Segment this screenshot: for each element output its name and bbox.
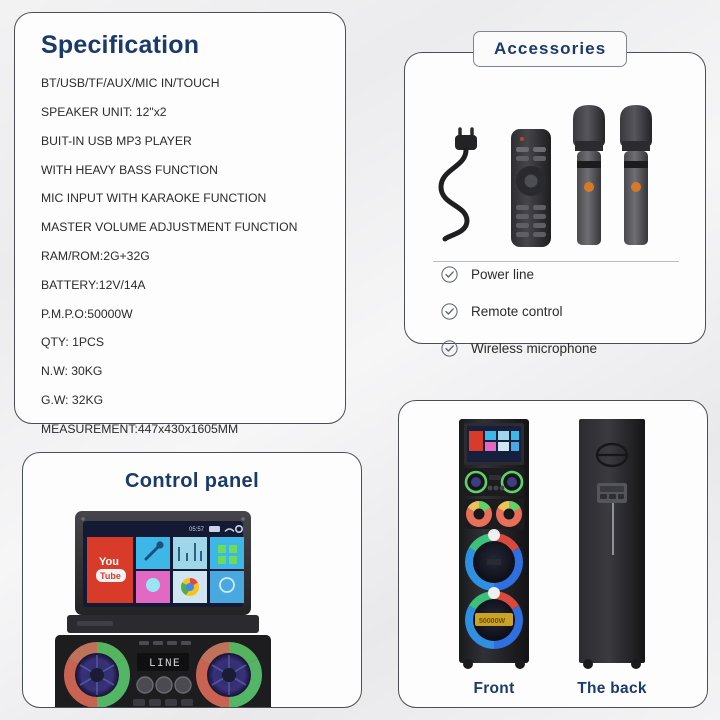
accessories-panel: Accessories	[404, 52, 706, 344]
control-panel-image: 05:57 You Tube	[37, 509, 349, 708]
wireless-microphone-image	[573, 105, 605, 245]
svg-text:05:57: 05:57	[189, 527, 205, 533]
back-view: The back	[573, 415, 651, 698]
led-display-text: LINE	[149, 658, 181, 670]
specification-panel: Specification BT/USB/TF/AUX/MIC IN/TOUCH…	[14, 12, 346, 424]
spec-line: QTY: 1PCS	[41, 328, 323, 357]
spec-line: N.W: 30KG	[41, 357, 323, 386]
accessory-label: Wireless microphone	[471, 341, 597, 356]
spec-line: WITH HEAVY BASS FUNCTION	[41, 155, 323, 184]
spec-line: RAM/ROM:2G+32G	[41, 242, 323, 271]
tweeter-right	[496, 501, 522, 527]
speaker-front-image: 50000W	[455, 415, 533, 673]
specification-list: BT/USB/TF/AUX/MIC IN/TOUCH SPEAKER UNIT:…	[41, 69, 323, 443]
spec-line: BT/USB/TF/AUX/MIC IN/TOUCH	[41, 69, 323, 98]
list-item: Wireless microphone	[441, 334, 597, 362]
spec-line: MASTER VOLUME ADJUSTMENT FUNCTION	[41, 213, 323, 242]
spec-line: BUIT-IN USB MP3 PLAYER	[41, 127, 323, 156]
specification-title: Specification	[41, 31, 323, 60]
control-knobs[interactable]	[137, 677, 191, 693]
accessories-title: Accessories	[473, 31, 627, 67]
remote-control-image	[511, 129, 551, 247]
speaker-back-image	[573, 415, 651, 673]
accessory-label: Power line	[471, 267, 534, 282]
control-panel-section: Control panel 05:57	[22, 452, 362, 708]
control-panel-title: Control panel	[23, 470, 361, 493]
front-view-label: Front	[473, 680, 514, 698]
spec-line: SPEAKER UNIT: 12"x2	[41, 98, 323, 127]
back-view-label: The back	[577, 680, 647, 698]
wireless-microphone-image	[620, 105, 652, 245]
power-line-image	[441, 129, 477, 239]
spec-line: G.W: 32KG	[41, 386, 323, 415]
spec-line: P.M.P.O:50000W	[41, 299, 323, 328]
spec-line: MEASUREMENT:447x430x1605MM	[41, 415, 323, 444]
tweeter-left	[466, 501, 492, 527]
spec-line: BATTERY:12V/14A	[41, 271, 323, 300]
accessories-list: Power line Remote control Wireless micro…	[441, 251, 597, 362]
list-item: Remote control	[441, 297, 597, 325]
left-rgb-speaker	[64, 642, 130, 708]
tile-apps-grid	[210, 537, 244, 569]
check-circle-icon	[441, 303, 458, 320]
svg-text:Tube: Tube	[100, 571, 121, 581]
svg-text:You: You	[99, 556, 119, 568]
front-view: 50000W Front	[455, 415, 533, 698]
spec-line: MIC INPUT WITH KARAOKE FUNCTION	[41, 184, 323, 213]
tile-info	[210, 571, 244, 603]
product-views-panel: 50000W Front	[398, 400, 708, 708]
accessories-product-image	[405, 89, 705, 259]
check-circle-icon	[441, 266, 458, 283]
list-item: Power line	[441, 260, 597, 288]
accessory-label: Remote control	[471, 304, 563, 319]
right-rgb-speaker	[196, 642, 262, 708]
power-badge: 50000W	[479, 618, 505, 625]
check-circle-icon	[441, 340, 458, 357]
